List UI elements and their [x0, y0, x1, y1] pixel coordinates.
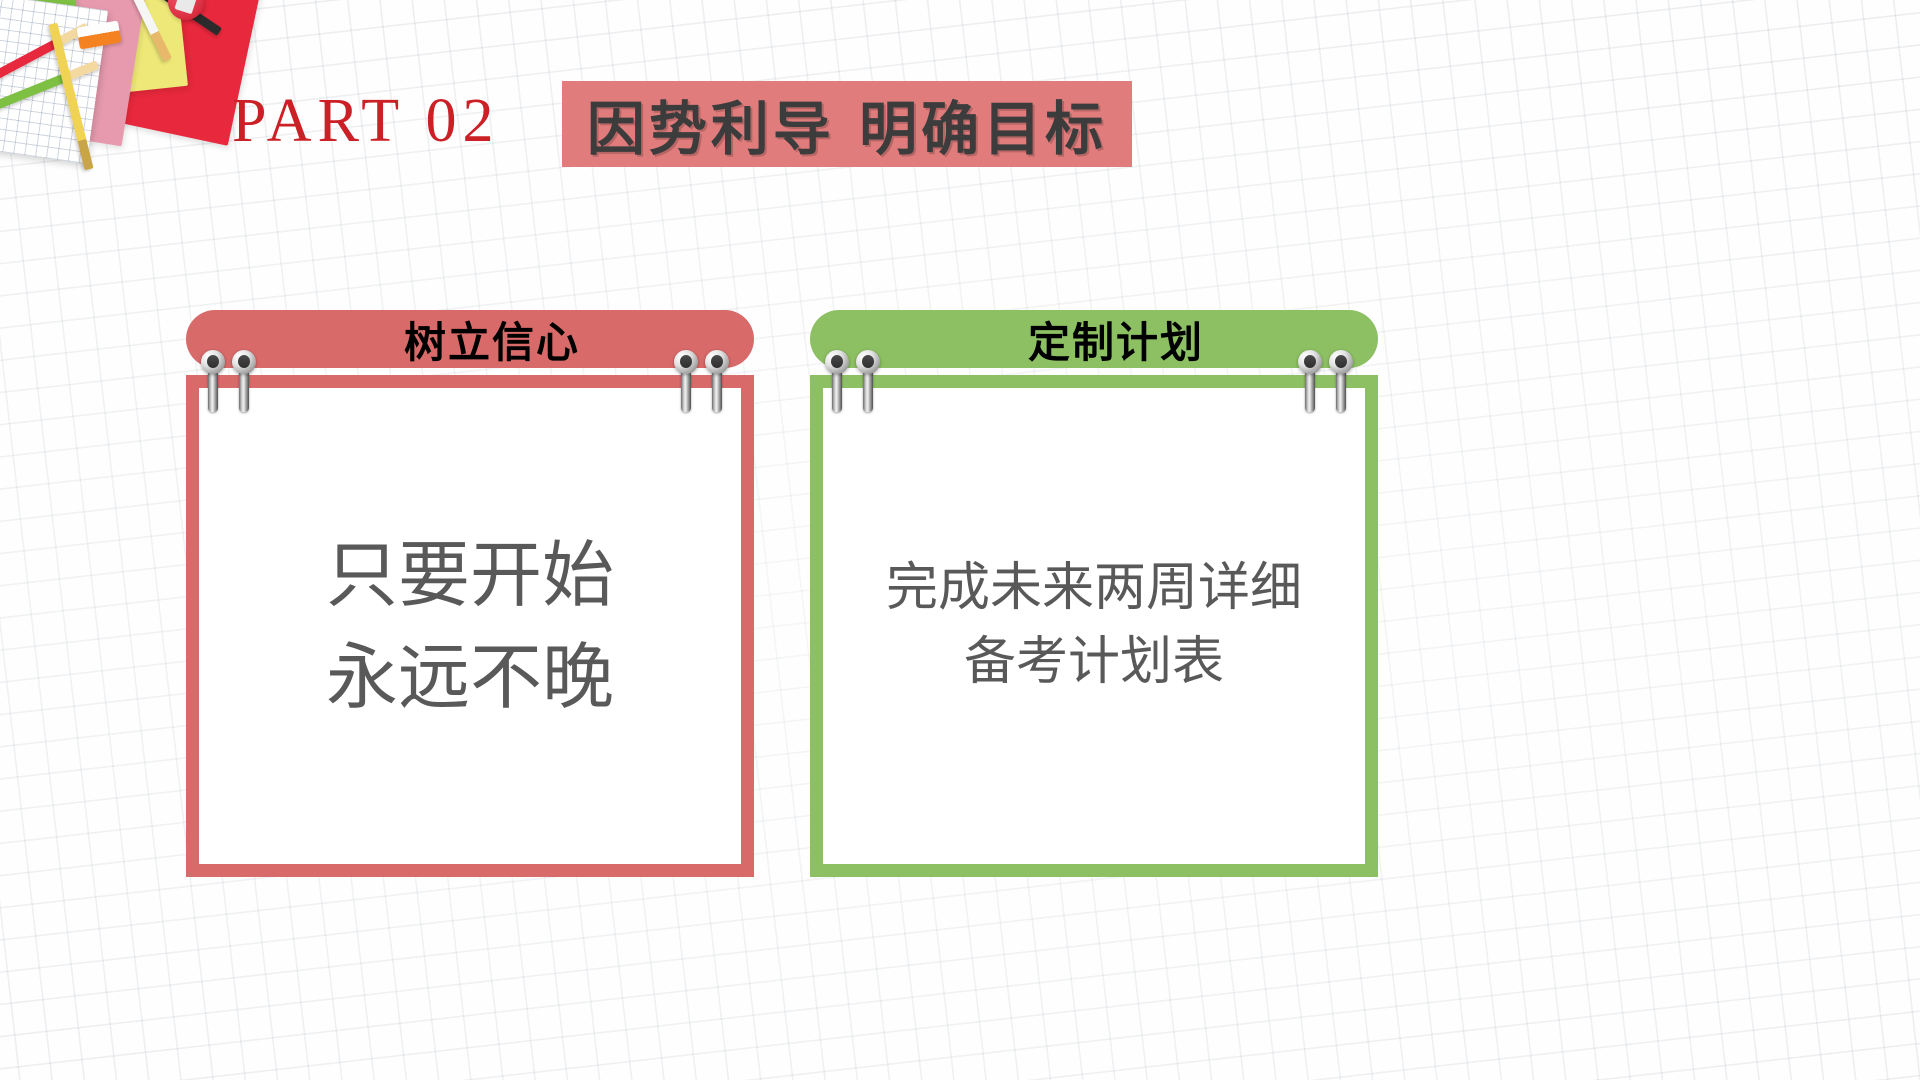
card-confidence-body-text: 只要开始 永远不晚	[326, 524, 614, 728]
spiral-ring-icon	[1298, 350, 1322, 412]
card-plan-header-label: 定制计划	[1028, 309, 1204, 370]
card-confidence-header-label: 树立信心	[404, 309, 580, 370]
card-plan-body: 完成未来两周详细 备考计划表	[810, 375, 1378, 877]
card-plan-rings-left	[825, 350, 880, 412]
card-confidence-body: 只要开始 永远不晚	[186, 375, 754, 877]
spiral-ring-icon	[232, 350, 256, 412]
section-title-banner: 因势利导 明确目标	[562, 81, 1132, 167]
card-confidence-header: 树立信心	[186, 310, 754, 368]
spiral-ring-icon	[201, 350, 225, 412]
card-plan-body-text: 完成未来两周详细 备考计划表	[886, 552, 1302, 700]
spiral-ring-icon	[1329, 350, 1353, 412]
section-title-text: 因势利导 明确目标	[587, 82, 1107, 166]
card-confidence: 树立信心 只要开始 永远不晚	[186, 310, 754, 877]
card-plan: 定制计划 完成未来两周详细 备考计划表	[810, 310, 1378, 877]
part-label: PART 02	[232, 86, 499, 157]
card-plan-header: 定制计划	[810, 310, 1378, 368]
card-confidence-rings-right	[674, 350, 729, 412]
spiral-ring-icon	[705, 350, 729, 412]
card-confidence-rings-left	[201, 350, 256, 412]
spiral-ring-icon	[825, 350, 849, 412]
spiral-ring-icon	[856, 350, 880, 412]
slide-canvas: PART 02 因势利导 明确目标 树立信心 只要开始 永远不晚 定制计划	[0, 0, 1920, 1080]
card-plan-rings-right	[1298, 350, 1353, 412]
spiral-ring-icon	[674, 350, 698, 412]
